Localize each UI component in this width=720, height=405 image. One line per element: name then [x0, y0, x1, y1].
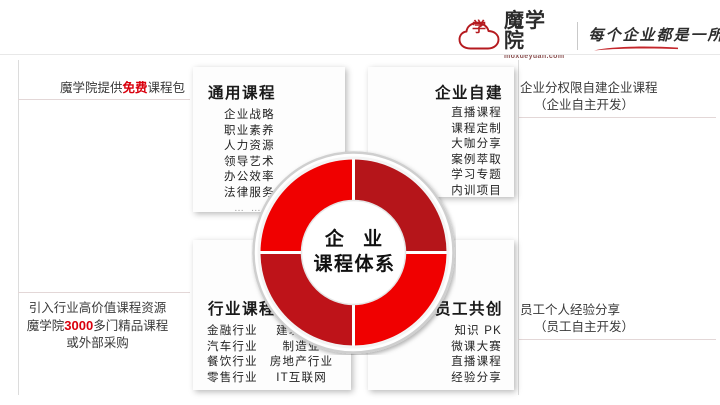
list-item: 直播课程: [451, 106, 502, 122]
list-item: 案例萃取: [451, 153, 502, 169]
logo-divider: [577, 22, 578, 50]
slide-canvas: 学 魔学院 moxueyuan.com 每个企业都是一所大学 魔学院提供免费课程…: [0, 0, 720, 405]
header-divider: [0, 54, 720, 55]
note-top-right-line1: 企业分权限自建企业课程: [520, 80, 715, 97]
note-bottom-left-line3: 或外部采购: [10, 335, 185, 352]
note-top-left-line1: 魔学院提供免费课程包: [10, 80, 185, 97]
list-item: 内训项目: [451, 184, 502, 200]
note-underline-top-left: [18, 99, 190, 100]
card-list-enterprise-built: 直播课程 课程定制 大咖分享 案例萃取 学习专题 内训项目: [451, 106, 502, 199]
note-bottom-right: 员工个人经验分享 （员工自主开发）: [520, 302, 715, 336]
list-item: 课程定制: [451, 122, 502, 138]
list-item: 房地产行业: [270, 355, 334, 371]
swoosh-icon: [594, 46, 678, 51]
note-bottom-right-line2: （员工自主开发）: [520, 319, 715, 336]
note-top-right: 企业分权限自建企业课程 （企业自主开发）: [520, 80, 715, 114]
list-item: 餐饮行业: [207, 355, 258, 371]
center-donut-diagram: 企 业 课程体系: [251, 150, 456, 355]
note-bl-after: 多门精品课程: [93, 319, 168, 333]
card-title-general-courses: 通用课程: [208, 81, 276, 103]
list-item: 学习专题: [451, 168, 502, 184]
list-item: 职业素养: [224, 124, 275, 140]
card-list-employee-cocreation: 知识 PK 微课大赛 直播课程 经验分享: [451, 324, 502, 386]
list-item: 经验分享: [451, 371, 502, 387]
brand-tagline: 每个企业都是一所大学: [588, 27, 720, 45]
note-bottom-left-line2: 魔学院3000多门精品课程: [10, 317, 185, 335]
list-item: 零售行业: [207, 371, 258, 387]
note-underline-bottom-right: [518, 339, 716, 340]
list-item: 知识 PK: [451, 324, 502, 340]
logo-mark-char: 学: [457, 11, 501, 41]
tagline-text: 每个企业都是一所大学: [588, 27, 720, 45]
list-item: 直播课程: [451, 355, 502, 371]
note-tl-after: 课程包: [147, 81, 185, 95]
note-tl-before: 魔学院提供: [60, 81, 123, 95]
note-top-left: 魔学院提供免费课程包: [10, 80, 185, 97]
logo-name: 魔学院: [504, 11, 565, 51]
note-tl-highlight: 免费: [122, 81, 147, 95]
list-item: 大咖分享: [451, 137, 502, 153]
note-top-right-line2: （企业自主开发）: [520, 97, 715, 114]
list-item: 微课大赛: [451, 340, 502, 356]
note-bottom-left-line1: 引入行业高价值课程资源: [10, 300, 185, 317]
note-bottom-right-line1: 员工个人经验分享: [520, 302, 715, 319]
card-title-enterprise-built: 企业自建: [435, 81, 503, 103]
right-guide-line: [518, 60, 519, 395]
note-underline-top-right: [518, 117, 716, 118]
list-item: IT互联网: [270, 371, 334, 387]
note-bottom-left: 引入行业高价值课程资源 魔学院3000多门精品课程 或外部采购: [10, 300, 185, 352]
note-bl-highlight: 3000: [64, 318, 93, 333]
note-overline-bottom-left: [18, 292, 190, 293]
slide-header: 学 魔学院 moxueyuan.com 每个企业都是一所大学: [0, 0, 720, 55]
list-item: 企业战略: [224, 108, 275, 124]
note-bl-before: 魔学院: [27, 319, 65, 333]
